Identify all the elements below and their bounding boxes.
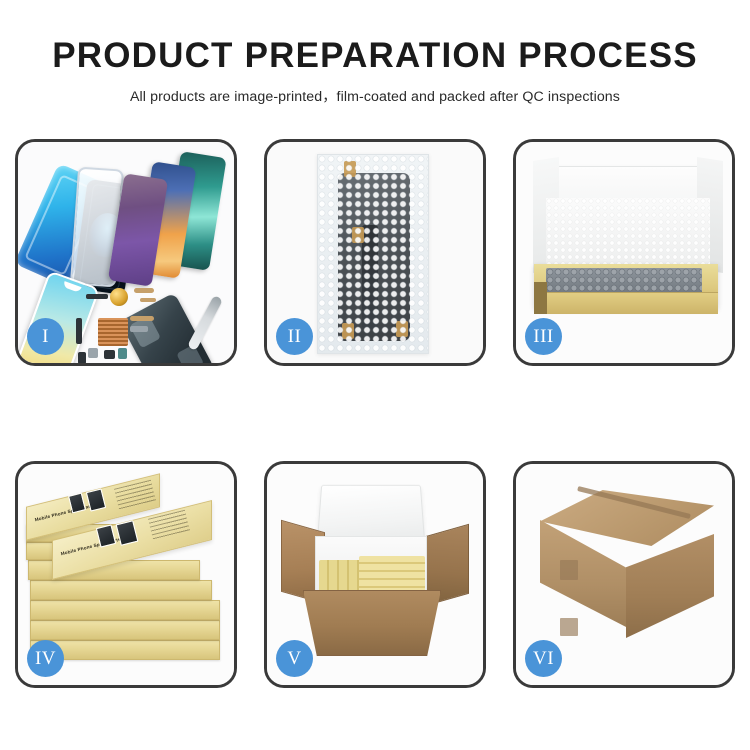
process-step-panel-2: II [264,139,486,366]
process-step-panel-5: V [264,461,486,688]
sealed-carton-photo: VI [516,464,732,685]
process-step-panel-1: I [15,139,237,366]
part-flex-1 [134,288,154,293]
copper-grid-part [98,318,128,346]
stacked-boxes-photo: Mobile Phone Spare Parts Mobile Phone Sp… [18,464,234,685]
yellow-box-end [534,282,547,314]
part-chip-3 [104,350,115,359]
filled-carton-photo: V [267,464,483,685]
bubble-wrap-photo: II [267,142,483,363]
stacked-box-3 [30,600,220,620]
process-step-grid: I II [15,139,735,691]
process-step-panel-3: III [513,139,735,366]
part-chip-6 [78,352,86,364]
part-flex-2 [140,298,156,302]
page-subtitle: All products are image-printed，film-coat… [0,86,750,106]
part-chip-4 [118,348,127,359]
yellow-boxes-row-2 [359,556,425,594]
page-title: PRODUCT PREPARATION PROCESS [0,36,750,76]
stacked-box-4 [30,620,220,640]
yellow-box-front [534,292,718,314]
process-step-panel-6: VI [513,461,735,688]
step-badge-5: V [276,640,313,677]
bubble-wrap-bag [317,154,429,354]
part-chip-5 [130,326,148,332]
step-badge-3: III [525,318,562,355]
carton-body [303,590,441,656]
carton-tape-lower [560,618,578,636]
header: PRODUCT PREPARATION PROCESS All products… [0,36,750,106]
process-step-panel-4: Mobile Phone Spare Parts Mobile Phone Sp… [15,461,237,688]
foam-sheet [546,198,710,266]
bubble-texture [318,155,428,353]
step-badge-4: IV [27,640,64,677]
part-chip-2 [88,348,98,358]
step-badge-6: VI [525,640,562,677]
part-flex-3 [130,316,154,321]
gold-coil-part [110,288,128,306]
stacked-box-2 [30,580,212,600]
part-chip-1 [86,294,108,299]
product-preparation-infographic: PRODUCT PREPARATION PROCESS All products… [0,0,750,750]
screwdriver-tool [187,295,223,351]
carton-tape-upper [560,560,578,580]
carton-right-face [626,534,714,638]
phone-parts-photo: I [18,142,234,363]
part-cable-1 [76,318,82,344]
step-badge-2: II [276,318,313,355]
inner-box-photo: III [516,142,732,363]
step-badge-1: I [27,318,64,355]
